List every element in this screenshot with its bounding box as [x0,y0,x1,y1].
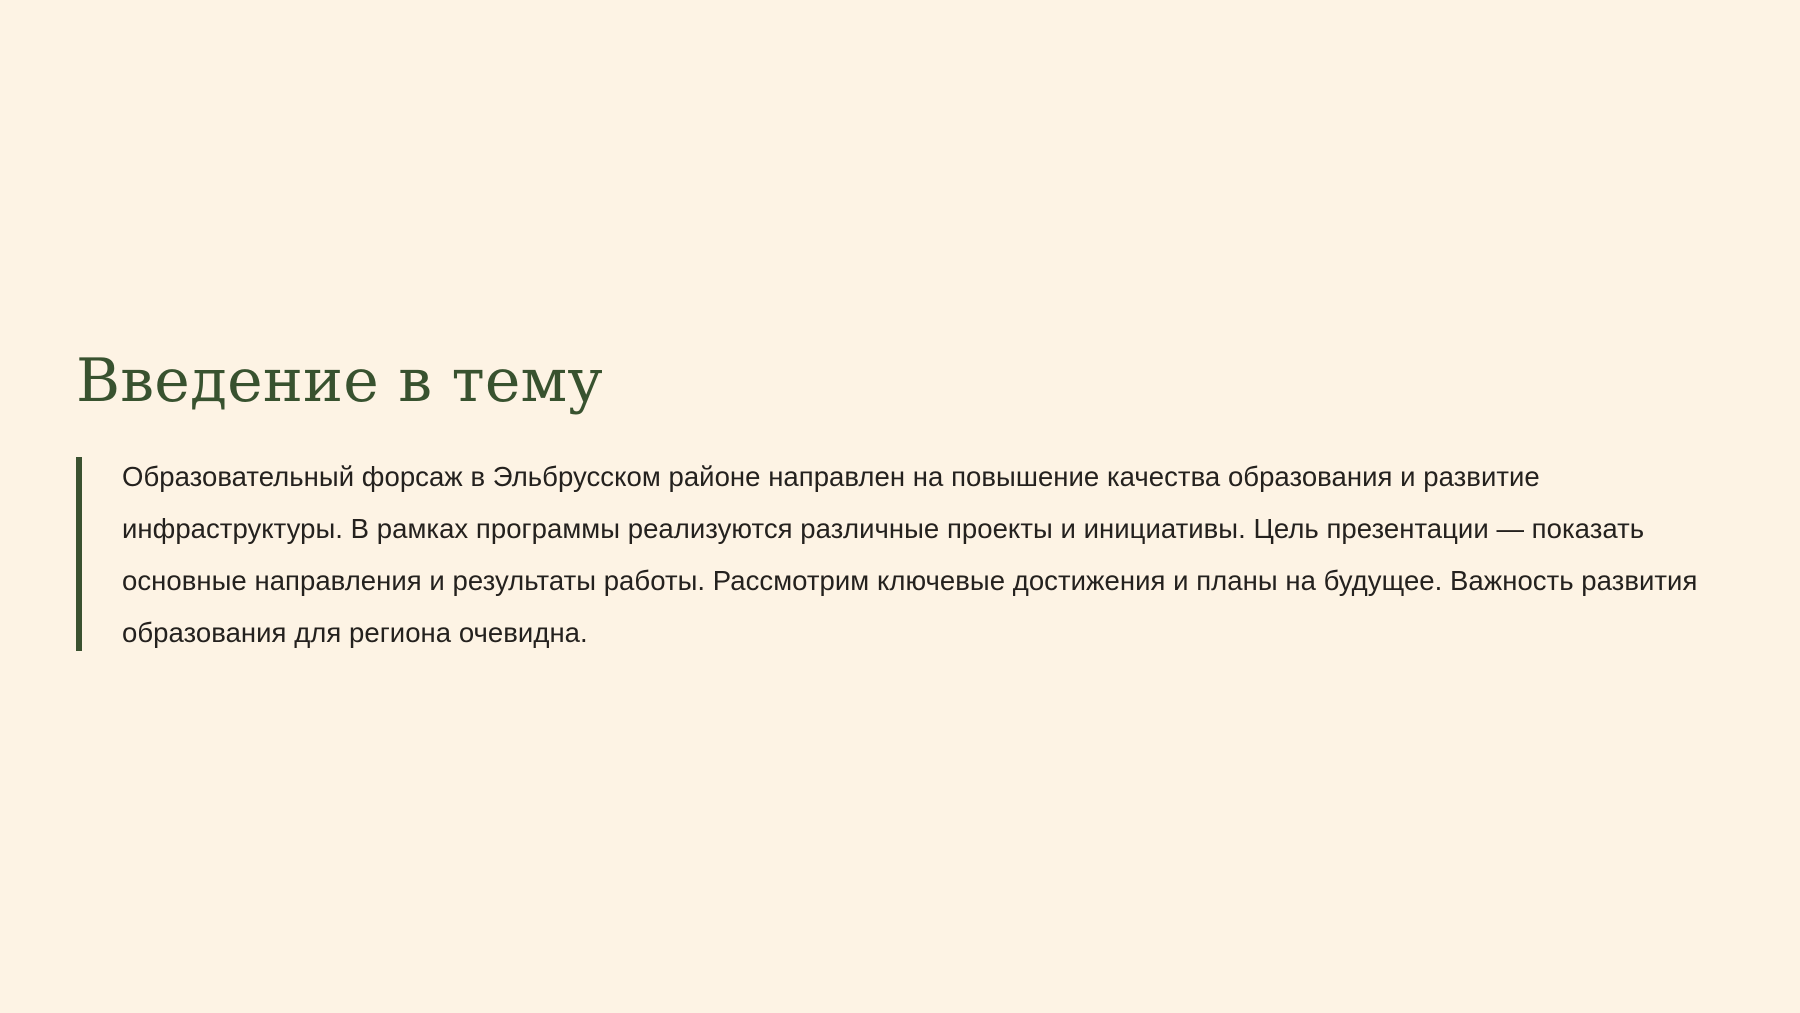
slide-content: Введение в тему Образовательный форсаж в… [76,348,1736,659]
accent-bar [76,457,82,651]
presentation-slide: Введение в тему Образовательный форсаж в… [0,0,1800,1013]
body-text-block: Образовательный форсаж в Эльбрусском рай… [76,451,1736,659]
body-paragraph: Образовательный форсаж в Эльбрусском рай… [122,451,1722,659]
page-title: Введение в тему [76,348,1736,415]
